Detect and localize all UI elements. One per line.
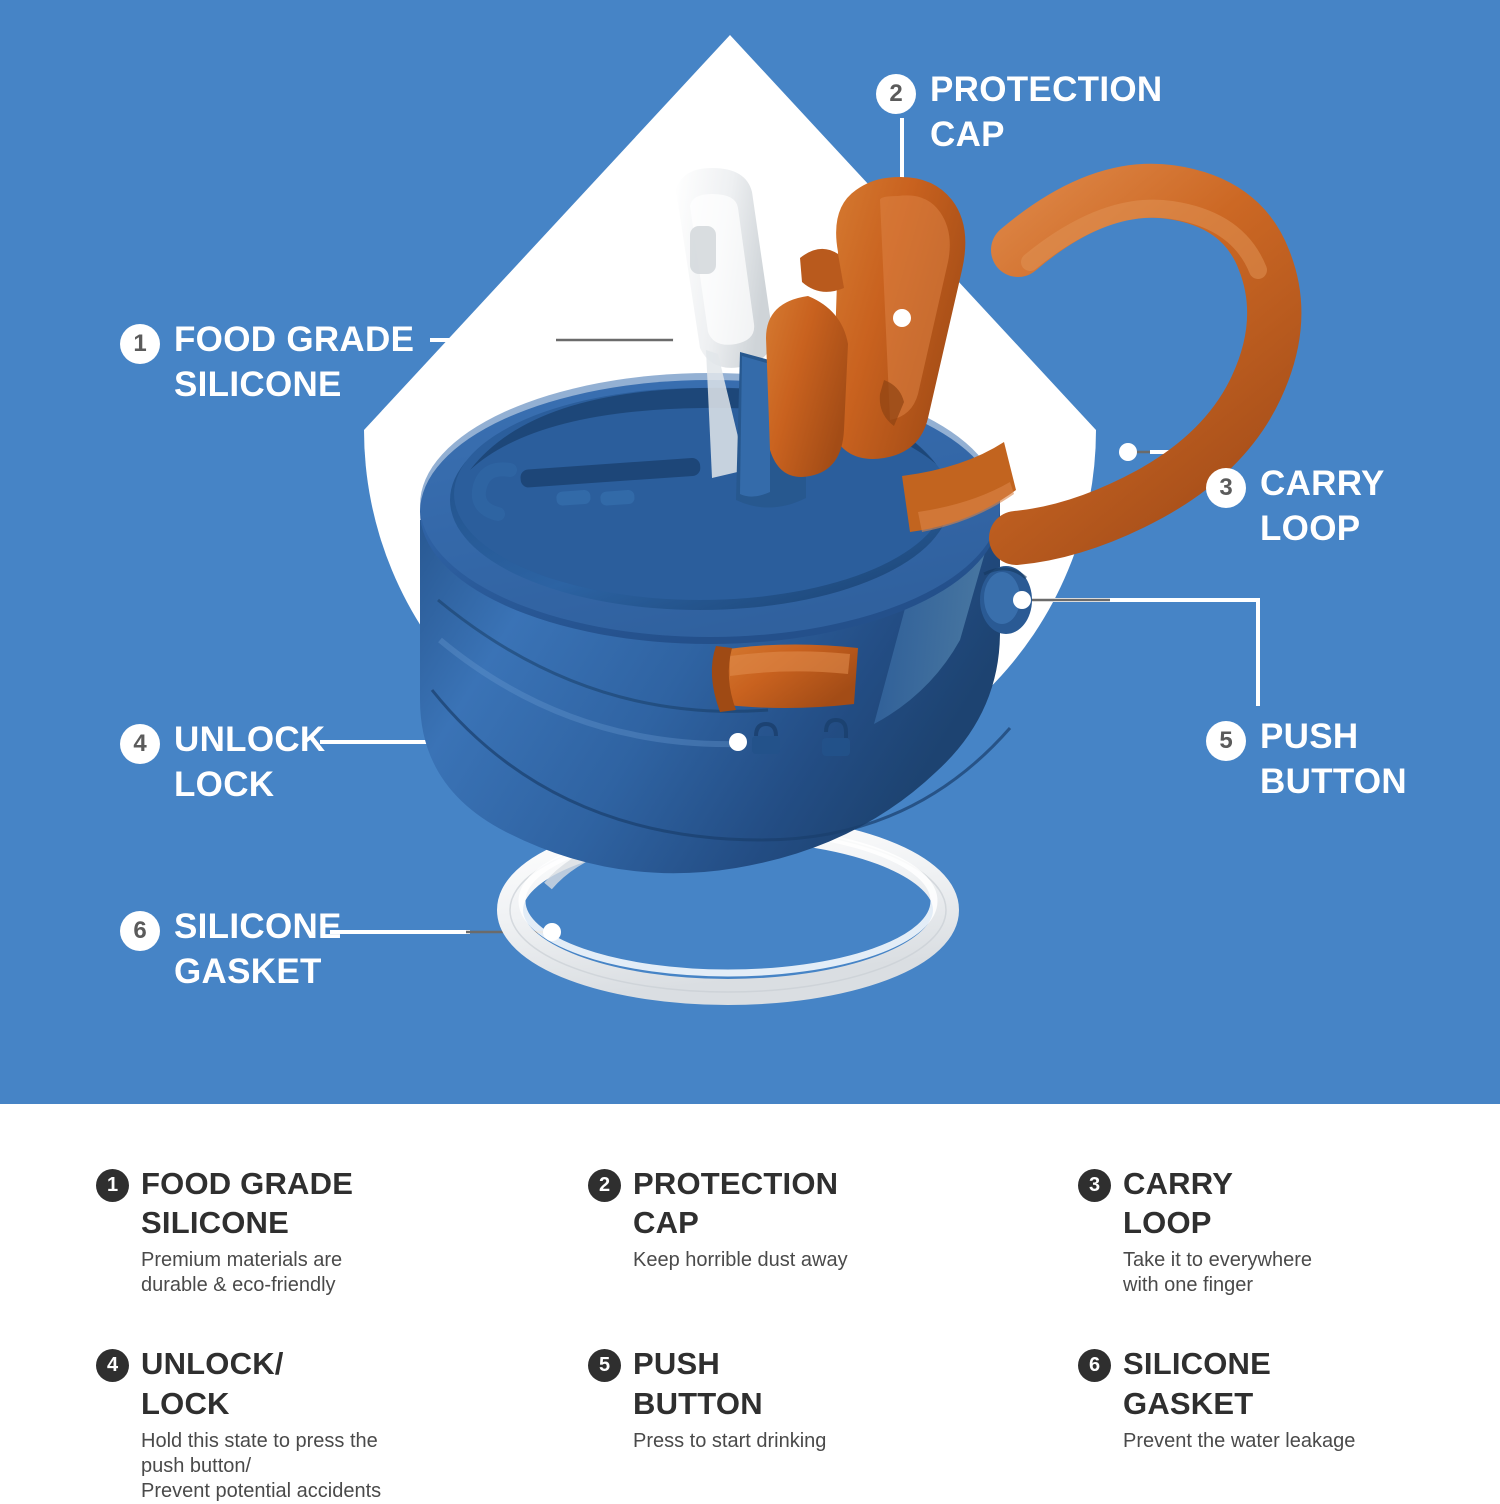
callout-badge-5: 5 <box>1206 721 1246 761</box>
legend-item-food-grade-silicone: 1 FOOD GRADE SILICONE Premium materials … <box>96 1164 588 1298</box>
push-tab <box>712 644 858 712</box>
legend-item-silicone-gasket: 6 SILICONE GASKET Prevent the water leak… <box>1078 1344 1500 1504</box>
callout-label-1: FOOD GRADE SILICONE <box>174 318 414 408</box>
legend-desc-5: Press to start drinking <box>633 1429 826 1454</box>
callout-badge-6: 6 <box>120 911 160 951</box>
legend-desc-4: Hold this state to press the push button… <box>141 1429 381 1504</box>
legend-title-4: UNLOCK/ LOCK <box>141 1344 381 1422</box>
legend-desc-1: Premium materials are durable & eco-frie… <box>141 1248 353 1298</box>
callout-food-grade-silicone: 1 FOOD GRADE SILICONE <box>120 318 414 408</box>
legend-title-2: PROTECTION CAP <box>633 1164 848 1242</box>
callout-protection-cap: 2 PROTECTION CAP <box>876 68 1162 158</box>
callout-carry-loop: 3 CARRY LOOP <box>1206 462 1385 552</box>
legend-badge-1: 1 <box>96 1169 129 1202</box>
legend-item-protection-cap: 2 PROTECTION CAP Keep horrible dust away <box>588 1164 1078 1298</box>
legend-badge-2: 2 <box>588 1169 621 1202</box>
leader-dot-6 <box>543 923 561 941</box>
legend-desc-2: Keep horrible dust away <box>633 1248 848 1273</box>
callout-unlock-lock: 4 UNLOCK LOCK <box>120 718 326 808</box>
legend-title-6: SILICONE GASKET <box>1123 1344 1355 1422</box>
legend-item-carry-loop: 3 CARRY LOOP Take it to everywhere with … <box>1078 1164 1500 1298</box>
legend-item-unlock-lock: 4 UNLOCK/ LOCK Hold this state to press … <box>96 1344 588 1504</box>
callout-label-3: CARRY LOOP <box>1260 462 1385 552</box>
leader-dot-1 <box>673 331 691 349</box>
callout-label-6: SILICONE GASKET <box>174 905 342 995</box>
callout-label-5: PUSH BUTTON <box>1260 715 1407 805</box>
legend-badge-5: 5 <box>588 1349 621 1382</box>
legend-grid: 1 FOOD GRADE SILICONE Premium materials … <box>0 1164 1500 1504</box>
leader-dot-5 <box>1013 591 1031 609</box>
legend-badge-4: 4 <box>96 1349 129 1382</box>
callout-badge-2: 2 <box>876 74 916 114</box>
legend-badge-6: 6 <box>1078 1349 1111 1382</box>
callout-badge-3: 3 <box>1206 468 1246 508</box>
legend-title-1: FOOD GRADE SILICONE <box>141 1164 353 1242</box>
legend-panel: 1 FOOD GRADE SILICONE Premium materials … <box>0 1104 1500 1471</box>
legend-desc-3: Take it to everywhere with one finger <box>1123 1248 1312 1298</box>
leader-dot-4 <box>729 733 747 751</box>
callout-push-button: 5 PUSH BUTTON <box>1206 715 1407 805</box>
callout-silicone-gasket: 6 SILICONE GASKET <box>120 905 342 995</box>
legend-title-3: CARRY LOOP <box>1123 1164 1312 1242</box>
callout-label-2: PROTECTION CAP <box>930 68 1162 158</box>
callout-badge-1: 1 <box>120 324 160 364</box>
legend-title-5: PUSH BUTTON <box>633 1344 826 1422</box>
legend-badge-3: 3 <box>1078 1169 1111 1202</box>
callout-badge-4: 4 <box>120 724 160 764</box>
legend-item-push-button: 5 PUSH BUTTON Press to start drinking <box>588 1344 1078 1504</box>
leader-dot-2 <box>893 309 911 327</box>
hero-panel: 1 FOOD GRADE SILICONE 2 PROTECTION CAP 3… <box>0 0 1500 1104</box>
callout-label-4: UNLOCK LOCK <box>174 718 326 808</box>
legend-desc-6: Prevent the water leakage <box>1123 1429 1355 1454</box>
leader-dot-3 <box>1119 443 1137 461</box>
